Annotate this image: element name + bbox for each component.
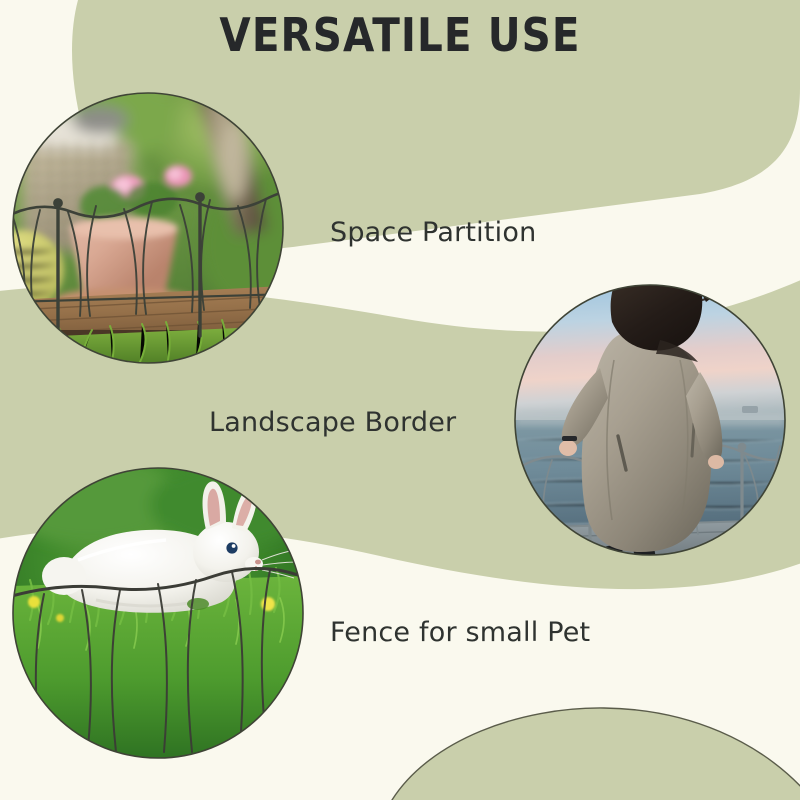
garden-patio-fence-photo [0,78,324,366]
page-title: VERSATILE USE [48,8,752,62]
feature-label-fence-small-pet: Fence for small Pet [330,617,590,648]
white-rabbit-grass-fence-photo [0,455,310,760]
photo-layer [0,0,800,800]
infographic-page: VERSATILE USE Space Partition Landscape … [0,0,800,800]
feature-label-landscape-border: Landscape Border [209,407,456,438]
seaside-promenade-fence-photo [515,255,788,622]
feature-label-space-partition: Space Partition [330,217,536,248]
